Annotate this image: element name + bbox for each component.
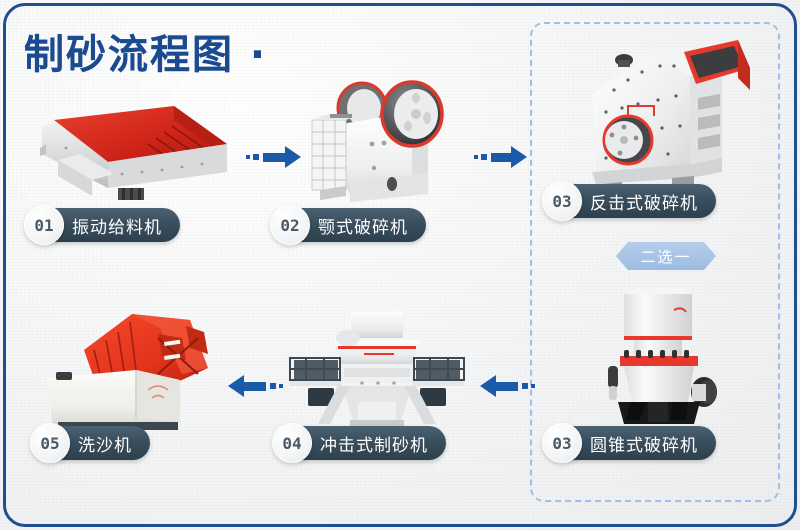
arrow-dot-1 [474, 155, 478, 159]
arrow-shaft [496, 382, 518, 391]
stage-label-03-cone[interactable]: 03 › 圆锥式破碎机 [542, 426, 716, 460]
stage-03b-artwork [596, 280, 736, 425]
stage-label-03-impact[interactable]: 03 › 反击式破碎机 [542, 184, 716, 218]
stage-name-pill-03-impact[interactable]: › 反击式破碎机 [568, 184, 716, 218]
stage-number-03-cone: 03 [542, 423, 582, 463]
stage-02-artwork [300, 62, 475, 212]
stage-name-pill-01[interactable]: › 振动给料机 [50, 208, 180, 242]
jaw-crusher-icon [300, 62, 475, 212]
stage-03a-artwork [562, 34, 757, 194]
arrow-dot-2 [270, 383, 276, 389]
arrow-shaft [491, 153, 511, 162]
arrow-dot-2 [522, 383, 528, 389]
stage-label-text-03-impact: 反击式破碎机 [590, 189, 698, 214]
stage-label-text-02: 颚式破碎机 [318, 213, 408, 238]
stage-label-04[interactable]: 04 › 冲击式制砂机 [272, 426, 446, 460]
choose-one-badge: 二选一 [616, 242, 716, 270]
arrow-head [285, 146, 301, 168]
stage-number-03-impact: 03 [542, 181, 582, 221]
sand-washer-icon [40, 298, 240, 430]
impact-crusher-icon [562, 34, 757, 194]
stage-name-pill-04[interactable]: › 冲击式制砂机 [298, 426, 446, 460]
stage-label-text-04: 冲击式制砂机 [320, 431, 428, 456]
stage-05-artwork [40, 298, 240, 430]
stage-label-05[interactable]: 05 › 洗沙机 [30, 426, 150, 460]
arrow-dot-2 [481, 154, 487, 160]
arrow-dot-1 [246, 155, 250, 159]
stage-number-01: 01 [24, 205, 64, 245]
page-title: 制砂流程图 · [24, 22, 267, 80]
stage-label-text-03-cone: 圆锥式破碎机 [590, 431, 698, 456]
stage-name-pill-03-cone[interactable]: › 圆锥式破碎机 [568, 426, 716, 460]
arrow-shaft [263, 153, 285, 162]
stage-number-05: 05 [30, 423, 70, 463]
arrow-feeder-to-jaw [246, 146, 301, 168]
stage-label-02[interactable]: 02 › 颚式破碎机 [270, 208, 426, 242]
arrow-head [228, 375, 244, 397]
arrow-dot-1 [279, 384, 283, 388]
arrow-head [480, 375, 496, 397]
arrow-vsi-to-washer [228, 375, 283, 397]
flow-diagram-page: 制砂流程图 · [0, 0, 800, 530]
stage-name-pill-02[interactable]: › 颚式破碎机 [296, 208, 426, 242]
arrow-crusher-to-vsi [480, 375, 535, 397]
stage-name-pill-05[interactable]: › 洗沙机 [56, 426, 150, 460]
vsi-sand-maker-icon [272, 302, 482, 432]
stage-number-02: 02 [270, 205, 310, 245]
stage-label-text-05: 洗沙机 [78, 431, 132, 456]
stage-label-01[interactable]: 01 › 振动给料机 [24, 208, 180, 242]
arrow-jaw-to-impact [474, 146, 527, 168]
arrow-shaft [244, 382, 266, 391]
stage-label-text-01: 振动给料机 [72, 213, 162, 238]
arrow-dot-2 [253, 154, 259, 160]
vibrating-feeder-icon [22, 96, 237, 206]
arrow-head [511, 146, 527, 168]
stage-01-artwork [22, 96, 237, 206]
stage-04-artwork [272, 302, 482, 432]
stage-number-04: 04 [272, 423, 312, 463]
cone-crusher-icon [596, 280, 736, 425]
arrow-dot-1 [531, 384, 535, 388]
